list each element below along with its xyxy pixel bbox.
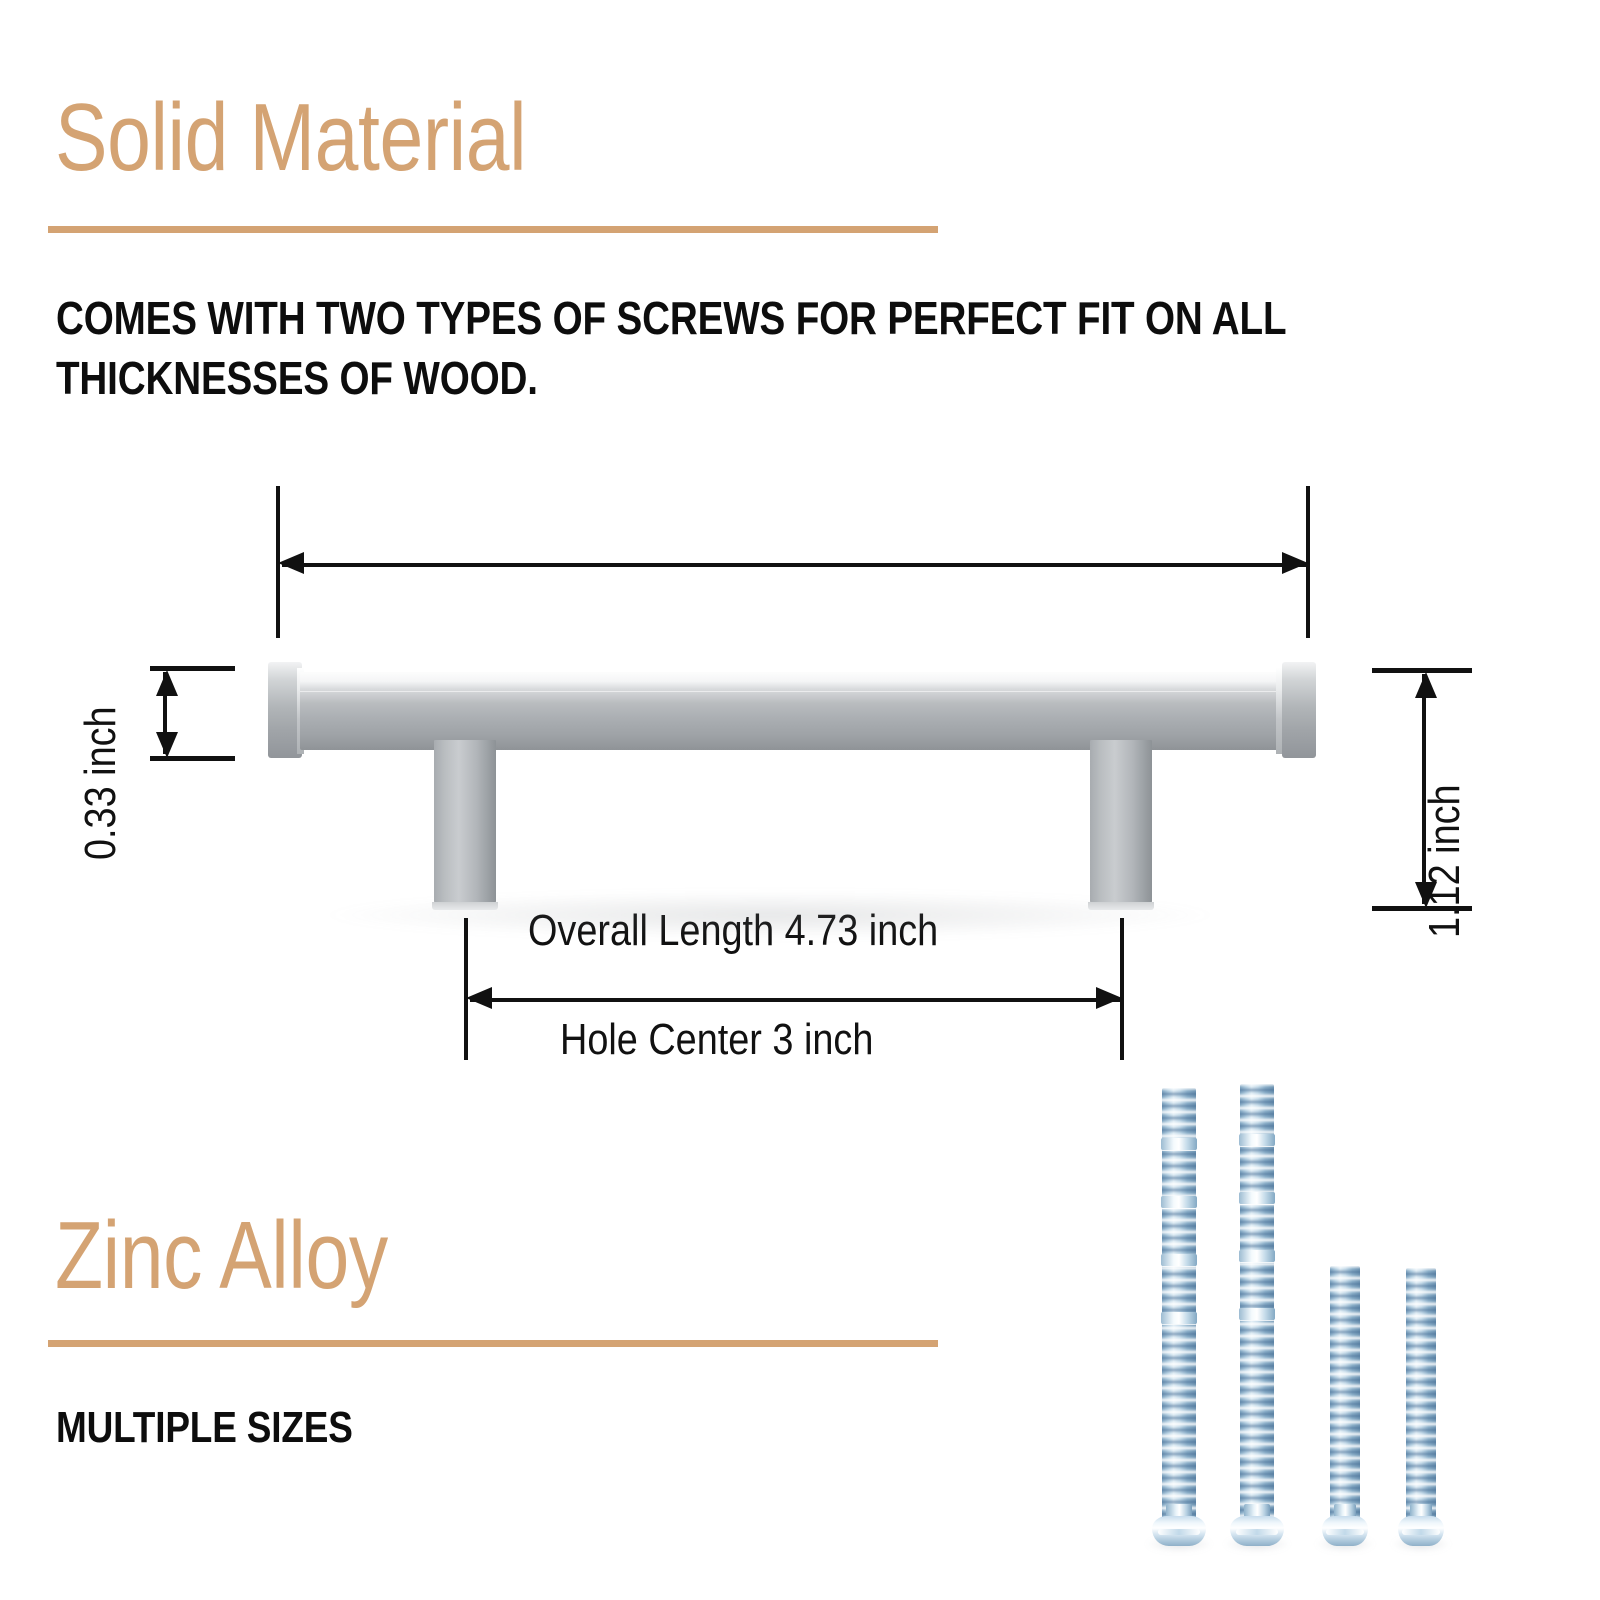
handle-bar xyxy=(300,672,1290,750)
dimension-label-projection-height: 1.12 inch xyxy=(1420,784,1470,938)
screw-breakaway-notch xyxy=(1239,1308,1276,1320)
handle-post-left xyxy=(434,740,496,904)
screw-shank xyxy=(1240,1084,1274,1524)
screw-long-1 xyxy=(1162,1080,1196,1548)
dimension-label-hole-center: Hole Center 3 inch xyxy=(560,1015,873,1065)
handle-post-right xyxy=(1090,740,1152,904)
screw-head xyxy=(1152,1516,1205,1546)
screw-long-2 xyxy=(1240,1080,1274,1548)
arrow-left-icon xyxy=(466,987,492,1009)
screw-short-2 xyxy=(1406,1260,1436,1548)
screw-shank xyxy=(1330,1266,1360,1524)
arrow-right-icon xyxy=(1282,552,1308,574)
section-title-zinc-alloy: Zinc Alloy xyxy=(55,1200,388,1312)
arrow-down-icon xyxy=(156,732,178,758)
screw-breakaway-notch xyxy=(1161,1196,1198,1208)
screw-breakaway-notch xyxy=(1161,1254,1198,1266)
screw-short-1 xyxy=(1330,1258,1360,1548)
arrow-up-icon xyxy=(156,670,178,696)
divider-top xyxy=(48,226,938,233)
section-body-screws: COMES WITH TWO TYPES OF SCREWS FOR PERFE… xyxy=(56,288,1518,408)
dimension-line-overall xyxy=(282,563,1308,567)
handle-post-foot xyxy=(432,902,498,910)
screw-breakaway-notch xyxy=(1161,1138,1198,1150)
screw-shank xyxy=(1162,1088,1196,1524)
screw-breakaway-notch xyxy=(1239,1192,1276,1204)
screw-breakaway-notch xyxy=(1239,1250,1276,1262)
arrow-up-icon xyxy=(1415,672,1437,698)
mounting-screws-group xyxy=(1140,1068,1470,1548)
product-diagram: Overall Length 4.73 inch 0.33 inch 1.12 … xyxy=(0,440,1600,1060)
screw-shank xyxy=(1406,1268,1436,1524)
section-body-sizes: MULTIPLE SIZES xyxy=(56,1400,353,1456)
screw-head xyxy=(1398,1516,1445,1546)
handle-end-cap-right xyxy=(1282,662,1316,758)
section-title-solid-material: Solid Material xyxy=(55,82,526,194)
dimension-label-bar-thickness: 0.33 inch xyxy=(76,706,126,860)
handle-post-foot xyxy=(1088,902,1154,910)
arrow-left-icon xyxy=(278,552,304,574)
screw-head xyxy=(1322,1516,1369,1546)
arrow-right-icon xyxy=(1096,987,1122,1009)
divider-bottom xyxy=(48,1340,938,1347)
infographic-page: Solid Material COMES WITH TWO TYPES OF S… xyxy=(0,0,1600,1600)
screw-breakaway-notch xyxy=(1161,1312,1198,1324)
screw-head xyxy=(1230,1516,1283,1546)
dimension-line-hole-center xyxy=(470,998,1122,1002)
screw-breakaway-notch xyxy=(1239,1134,1276,1146)
